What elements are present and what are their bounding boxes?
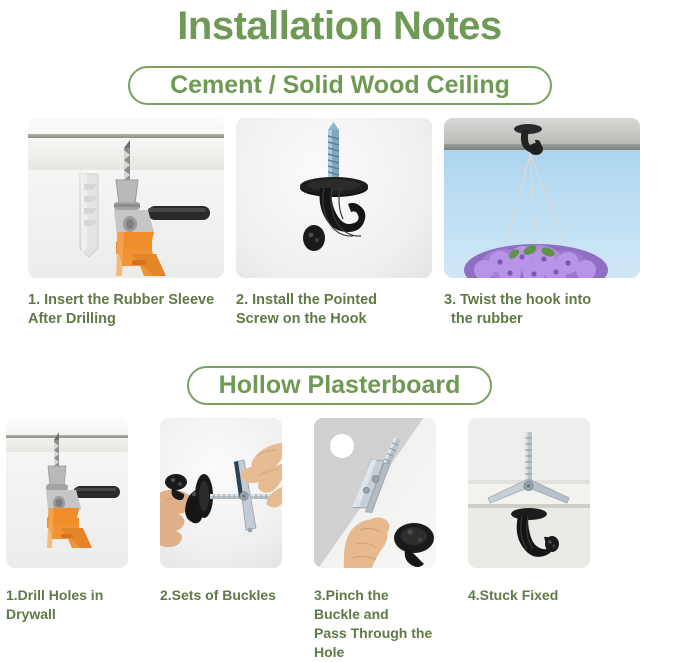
step-caption-3: 3. Twist the hook into the rubber — [444, 291, 640, 329]
toggle-spread-illustration — [468, 418, 590, 568]
drill-and-anchor-illustration — [28, 118, 224, 278]
step-caption-p3-line2: Pass Through the Hole — [314, 624, 436, 662]
step-caption-p3: 3.Pinch the Buckle and Pass Through the … — [314, 586, 436, 662]
step-caption-p1: 1.Drill Holes in Drywall — [6, 586, 128, 662]
step-image-hook-holding-hanging-flower-basket — [444, 118, 640, 278]
step-caption-1-line2: After Drilling — [28, 310, 224, 329]
section-heading-cement-label: Cement / Solid Wood Ceiling — [170, 71, 510, 100]
step-caption-2-line2: Screw on the Hook — [236, 310, 432, 329]
step-image-toggle-bolt-spread-open-with-hook — [468, 418, 590, 568]
scene-sky-flowers — [444, 118, 640, 278]
step-caption-p1-line1: 1.Drill Holes in Drywall — [6, 587, 103, 622]
hanging-basket-illustration — [444, 118, 640, 278]
step-caption-3-line2: the rubber — [444, 310, 640, 329]
drywall-drill-illustration — [6, 418, 128, 568]
step-caption-p3-line1: 3.Pinch the Buckle and — [314, 587, 389, 622]
scene-stuck-fixed — [468, 418, 590, 568]
step-caption-2-line1: 2. Install the Pointed — [236, 292, 377, 308]
section-heading-plasterboard: Hollow Plasterboard — [187, 366, 492, 405]
step-caption-p4: 4.Stuck Fixed — [468, 586, 590, 662]
step-image-drill-into-ceiling-with-rubber-sleeve — [28, 118, 224, 278]
pinched-toggle-illustration — [314, 418, 436, 568]
scene-pinch-buckle — [314, 418, 436, 568]
step-caption-1: 1. Insert the Rubber Sleeve After Drilli… — [28, 291, 224, 329]
scene-drywall-drill — [6, 418, 128, 568]
step-caption-p2: 2.Sets of Buckles — [160, 586, 282, 662]
step-image-hand-pinching-toggle-wings — [314, 418, 436, 568]
caption-row-plasterboard: 1.Drill Holes in Drywall 2.Sets of Buckl… — [0, 586, 679, 662]
scene-hands-buckles — [160, 418, 282, 568]
step-image-black-ceiling-hook-with-pointed-screw — [236, 118, 432, 278]
scene-ceiling-drill — [28, 118, 224, 278]
page-title: Installation Notes — [0, 2, 679, 50]
step-caption-p4-line1: 4.Stuck Fixed — [468, 587, 558, 603]
caption-row-cement: 1. Insert the Rubber Sleeve After Drilli… — [0, 291, 679, 329]
section-heading-cement: Cement / Solid Wood Ceiling — [128, 66, 552, 105]
hook-with-screw-illustration — [236, 118, 432, 278]
hands-and-toggle-illustration — [160, 418, 282, 568]
step-caption-3-line1: 3. Twist the hook into — [444, 292, 591, 308]
step-image-drill-into-drywall — [6, 418, 128, 568]
step-caption-1-line1: 1. Insert the Rubber Sleeve — [28, 292, 214, 308]
scene-studio-hook — [236, 118, 432, 278]
step-caption-p2-line1: 2.Sets of Buckles — [160, 587, 276, 603]
step-image-hands-holding-hook-and-toggle-bolt — [160, 418, 282, 568]
image-row-cement — [0, 118, 679, 283]
step-caption-2: 2. Install the Pointed Screw on the Hook — [236, 291, 432, 329]
image-row-plasterboard — [0, 418, 679, 573]
section-heading-plasterboard-label: Hollow Plasterboard — [219, 371, 461, 400]
